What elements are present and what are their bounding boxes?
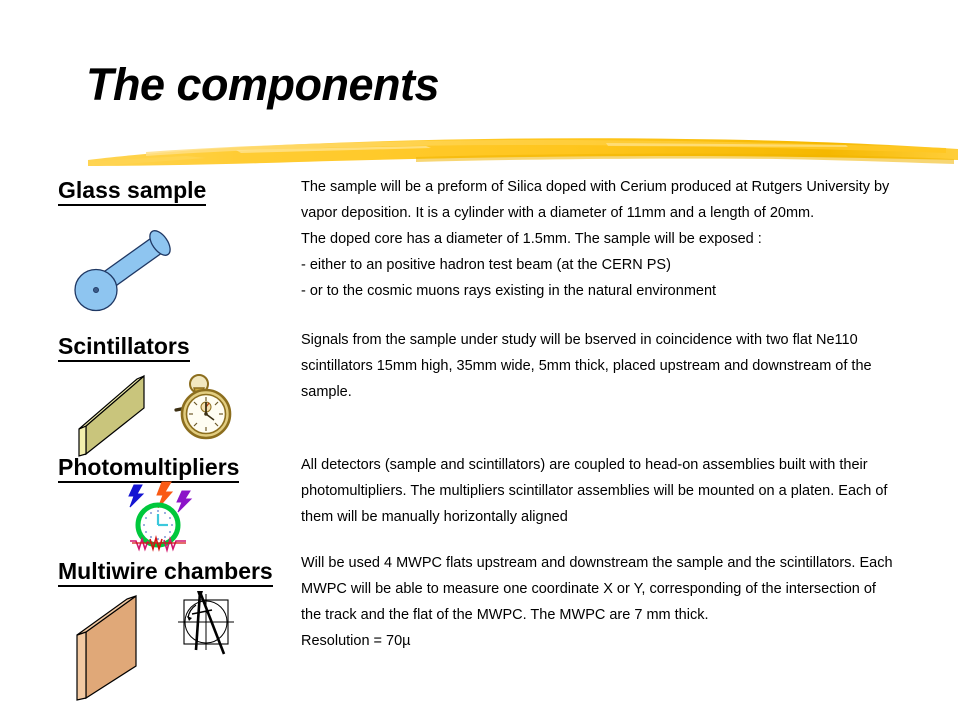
paragraph-line: the track and the flat of the MWPC. The … <box>301 602 937 628</box>
paragraph-line: All detectors (sample and scintillators)… <box>301 452 937 478</box>
paragraph-line: MWPC will be able to measure one coordin… <box>301 576 937 602</box>
paragraph-glass-sample: The sample will be a preform of Silica d… <box>301 174 939 304</box>
paragraph-line: photomultipliers. The multipliers scinti… <box>301 478 937 504</box>
scintillator-slab-figure <box>74 368 164 458</box>
paragraph-line: sample. <box>301 379 937 405</box>
paragraph-line: The doped core has a diameter of 1.5mm. … <box>301 226 939 252</box>
page-title: The components <box>86 59 439 111</box>
paragraph-line: - either to an positive hadron test beam… <box>301 252 939 278</box>
section-heading-photomultipliers: Photomultipliers <box>58 455 239 483</box>
paragraph-multiwire-chambers: Will be used 4 MWPC flats upstream and d… <box>301 550 937 654</box>
paragraph-photomultipliers: All detectors (sample and scintillators)… <box>301 452 937 530</box>
compass-figure <box>174 588 242 662</box>
paragraph-scintillators: Signals from the sample under study will… <box>301 327 937 405</box>
paragraph-line: scintillators 15mm high, 35mm wide, 5mm … <box>301 353 937 379</box>
slide-canvas: The components Glass sample <box>0 0 959 719</box>
section-heading-scintillators: Scintillators <box>58 334 190 362</box>
glass-cylinder-figure <box>66 224 178 314</box>
paragraph-line: The sample will be a preform of Silica d… <box>301 174 939 200</box>
mwpc-slab-figure <box>68 588 158 702</box>
stopwatch-figure <box>168 372 242 446</box>
brush-stroke-divider <box>86 128 959 176</box>
paragraph-line: Signals from the sample under study will… <box>301 327 937 353</box>
photomultiplier-clock-figure <box>116 481 200 555</box>
section-heading-multiwire-chambers: Multiwire chambers <box>58 559 273 587</box>
paragraph-line: vapor deposition. It is a cylinder with … <box>301 200 939 226</box>
paragraph-line: - or to the cosmic muons rays existing i… <box>301 278 939 304</box>
paragraph-line: them will be manually horizontally align… <box>301 504 937 530</box>
paragraph-line: Will be used 4 MWPC flats upstream and d… <box>301 550 937 576</box>
paragraph-line-resolution: Resolution = 70µ <box>301 628 937 654</box>
section-heading-glass-sample: Glass sample <box>58 178 206 206</box>
